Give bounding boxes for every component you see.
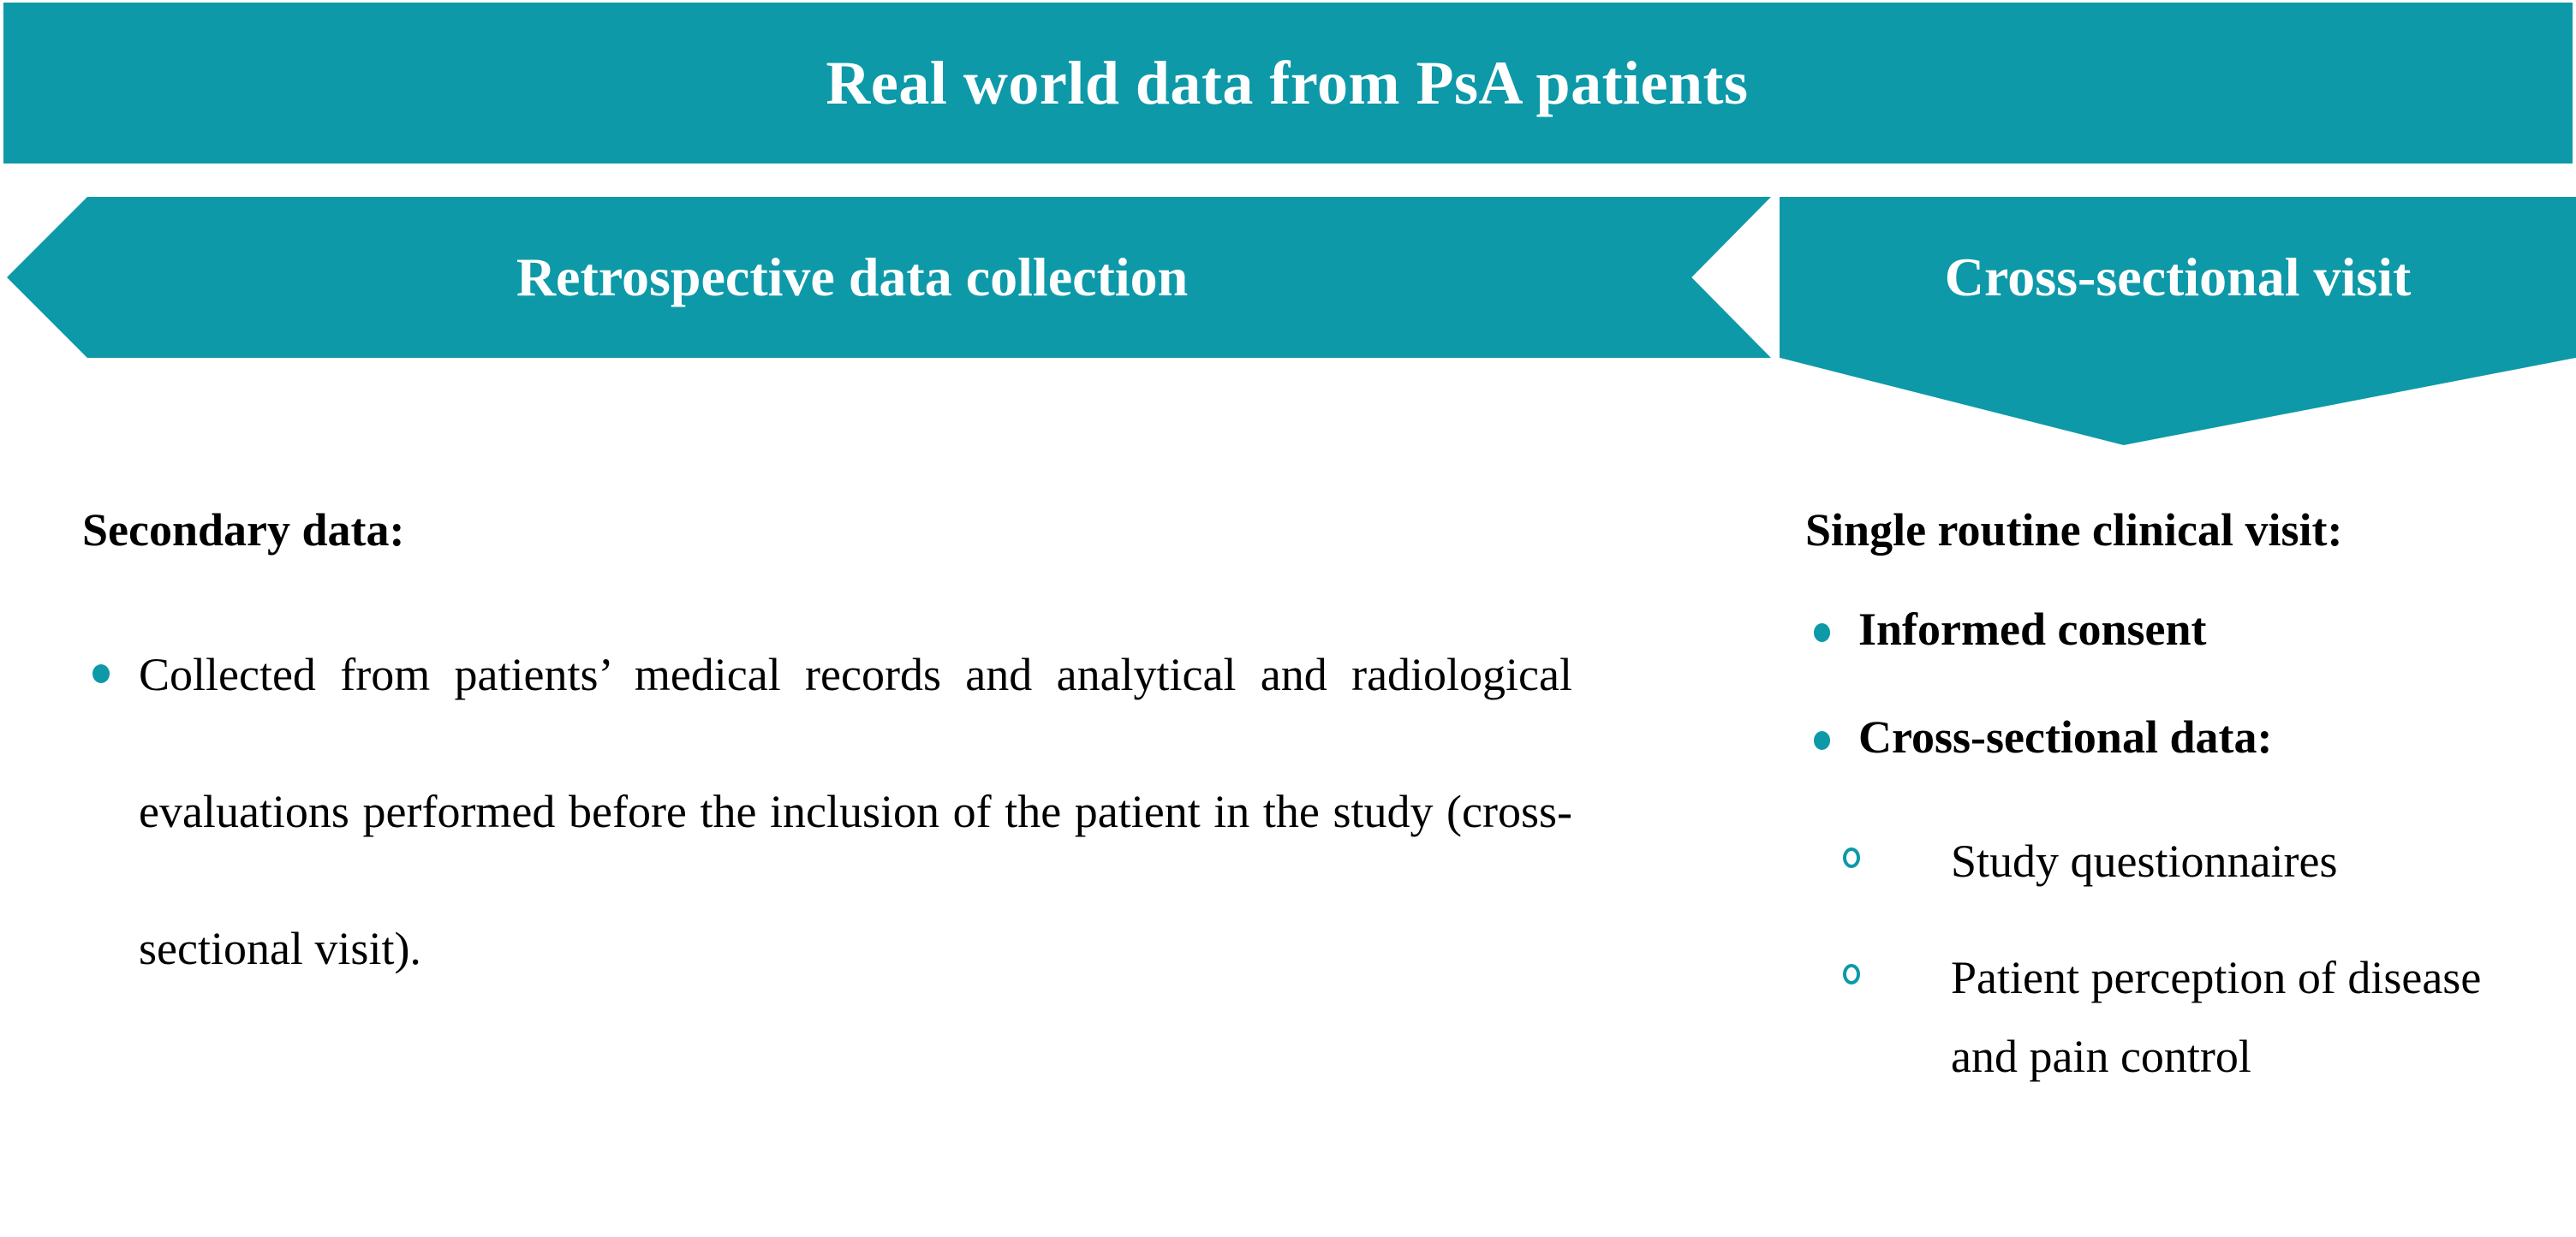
bullet-hollow-circle-icon <box>1843 964 1860 984</box>
banner-title: Real world data from PsA patients <box>826 52 1748 114</box>
right-column-heading-colon: : <box>2328 504 2343 556</box>
flow-stage-cross-sectional-label: Cross-sectional visit <box>1780 197 2576 358</box>
sub-list-item: Study questionnaires <box>1805 822 2576 901</box>
bullet-dot-icon <box>1814 623 1830 642</box>
list-item-text: Informed consent <box>1858 604 2206 655</box>
top-banner: Real world data from PsA patients <box>3 3 2573 164</box>
right-column-heading-text: Single routine clinical visit <box>1805 504 2328 556</box>
study-flow-diagram: Retrospective data collection Cross-sect… <box>0 197 2576 454</box>
list-item: Cross-sectional data: <box>1805 714 2576 760</box>
left-column-heading-colon: : <box>390 504 405 556</box>
list-item-text: Cross-sectional data: <box>1858 711 2272 763</box>
right-column: Single routine clinical visit: Informed … <box>1805 507 2576 1133</box>
sub-list-item-text-line2: and pain control <box>1951 1017 2576 1096</box>
list-item-text: Collected from patients’ medical records… <box>139 649 1572 974</box>
flow-stage-retrospective-label: Retrospective data collection <box>0 197 1704 358</box>
sub-list-item: Patient perception of disease and pain c… <box>1805 938 2576 1096</box>
sub-list-item-text: Study questionnaires <box>1951 822 2576 901</box>
bullet-hollow-circle-icon <box>1843 847 1860 868</box>
list-item: Collected from patients’ medical records… <box>82 606 1572 1017</box>
left-column: Secondary data: Collected from patients’… <box>82 507 1572 1017</box>
right-column-heading: Single routine clinical visit: <box>1805 507 2576 553</box>
sub-list-item-text-line1: Patient perception of disease <box>1951 938 2576 1017</box>
list-item: Informed consent <box>1805 606 2576 652</box>
left-column-heading-text: Secondary data <box>82 504 390 556</box>
bullet-dot-icon <box>92 664 110 683</box>
bullet-dot-icon <box>1814 731 1830 750</box>
left-column-heading: Secondary data: <box>82 507 1572 553</box>
